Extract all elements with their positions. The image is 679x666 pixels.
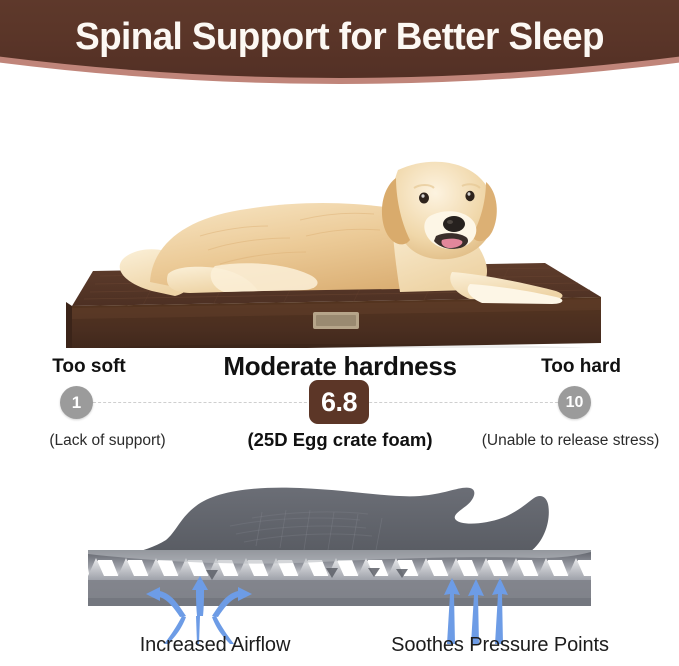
foam-cross-section-diagram: Increased Airflow Soothes Pressure Point… [0,458,679,666]
scale-node-min: 1 [60,386,93,419]
foam-caption-pressure: Soothes Pressure Points [350,634,650,657]
golden-retriever-dog [120,162,563,304]
hardness-scale: Too soft Moderate hardness Too hard 1 6.… [0,348,679,460]
scale-caption-right: (Unable to release stress) [462,432,679,450]
scale-caption-center: (25D Egg crate foam) [190,429,490,451]
scale-caption-left: (Lack of support) [0,432,215,450]
scale-label-hard: Too hard [506,356,656,378]
scale-label-soft: Too soft [14,356,164,378]
page-title: Spinal Support for Better Sleep [10,14,669,60]
header-banner: Spinal Support for Better Sleep [0,0,679,96]
product-photo [0,96,679,348]
scale-node-max: 10 [558,386,591,419]
hardness-score-badge: 6.8 [309,380,369,424]
product-photo-illustration [0,96,679,348]
scale-label-moderate: Moderate hardness [190,351,490,382]
brand-label-tag [313,312,359,329]
foam-caption-airflow: Increased Airflow [80,634,350,657]
